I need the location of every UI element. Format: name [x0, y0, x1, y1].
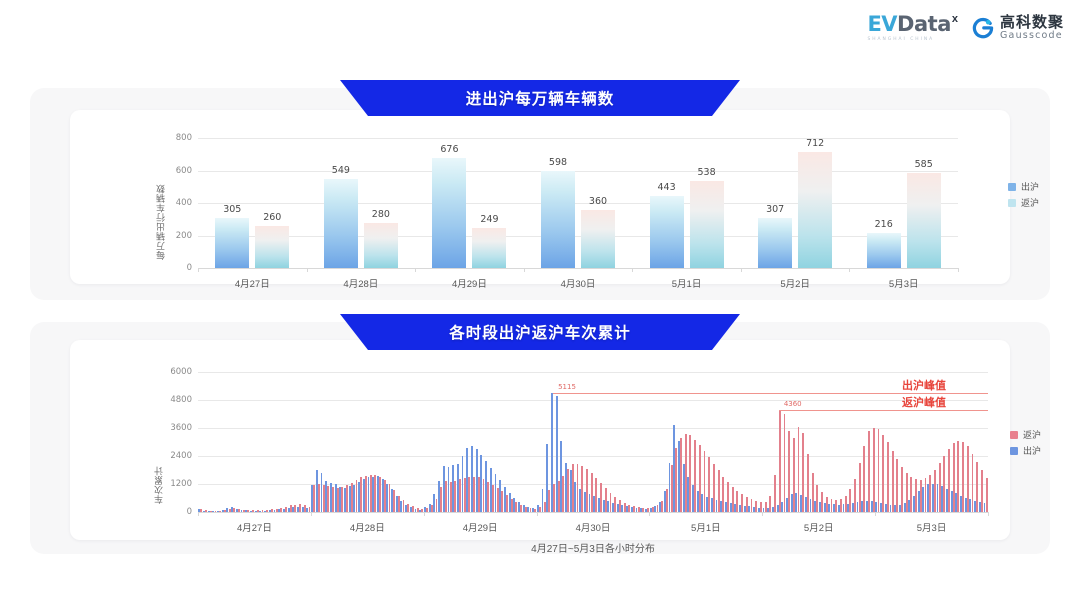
- bar-ret: [255, 226, 289, 268]
- legend-label: 返沪: [1023, 428, 1041, 441]
- gridline-y: [198, 236, 958, 237]
- hourly-bar-ret: [779, 410, 781, 512]
- bar-value-label: 305: [223, 204, 241, 215]
- axis-tick-y-chart-2: 4800: [162, 395, 192, 405]
- bar-ret: [907, 173, 941, 268]
- axis-tick-x-chart-2: 5月3日: [917, 520, 947, 534]
- evdata-superscript: x: [952, 13, 958, 25]
- bar-value-label: 712: [806, 138, 824, 149]
- banner-title-2: 各时段出沪返沪车次累计: [340, 314, 740, 350]
- legend-swatch: [1008, 199, 1016, 207]
- legend-item-出沪: 出沪: [1010, 444, 1041, 457]
- evdata-prefix: EV: [867, 12, 897, 36]
- legend-swatch: [1010, 431, 1018, 439]
- bar-value-label: 598: [549, 157, 567, 168]
- axis-tickmark-x: [307, 268, 308, 272]
- evdata-tagline: SHANGHAI CHINA: [867, 37, 934, 42]
- bar-value-label: 249: [480, 214, 498, 225]
- legend-chart-2: 返沪出沪: [1010, 428, 1041, 457]
- bar-value-label: 443: [657, 182, 675, 193]
- gausscode-name-cn: 高科数聚: [1000, 15, 1064, 31]
- bar-out: [324, 179, 358, 268]
- gridline-y: [198, 203, 958, 204]
- axis-tickmark-x: [537, 512, 538, 516]
- bar-ret: [472, 228, 506, 268]
- evdata-wordmark: EVData x: [867, 14, 958, 35]
- evdata-logo: EVData x SHANGHAI CHINA: [867, 14, 958, 42]
- bar-value-label: 676: [440, 144, 458, 155]
- bar-value-label: 307: [766, 204, 784, 215]
- bar-chart-daily-vehicles: 每万辆出行车辆数02004006008003052604月27日5492804月…: [198, 138, 958, 268]
- bar-value-label: 549: [332, 165, 350, 176]
- gausscode-name-en: Gausscode: [1000, 31, 1064, 41]
- axis-tick-x-chart-1: 4月28日: [343, 276, 378, 290]
- bar-out: [867, 233, 901, 268]
- gridline-y: [198, 171, 958, 172]
- gausscode-logo: 高科数聚 Gausscode: [972, 15, 1064, 41]
- axis-tickmark-x: [649, 512, 650, 516]
- legend-item-返沪: 返沪: [1010, 428, 1041, 441]
- axis-tick-y-chart-2: 2400: [162, 451, 192, 461]
- hourly-bar-ret: [873, 428, 875, 512]
- bar-out: [758, 218, 792, 268]
- axis-tickmark-x: [415, 268, 416, 272]
- legend-label: 返沪: [1021, 196, 1039, 209]
- bar-value-label: 216: [875, 219, 893, 230]
- axis-tick-x-chart-2: 4月28日: [350, 520, 385, 534]
- axis-tick-y-chart-1: 0: [164, 263, 192, 273]
- axis-tickmark-x: [524, 268, 525, 272]
- axis-tick-x-chart-1: 5月2日: [780, 276, 810, 290]
- axis-tickmark-x: [849, 268, 850, 272]
- gausscode-mark-icon: [972, 17, 994, 39]
- chart-card-1: 每万辆出行车辆数02004006008003052604月27日5492804月…: [70, 110, 1010, 284]
- panel-hourly-trips: 车次累计0120024003600480060004月27日4月28日4月29日…: [30, 322, 1050, 554]
- axis-tickmark-x: [311, 512, 312, 516]
- legend-swatch: [1008, 183, 1016, 191]
- axis-tickmark-x: [198, 512, 199, 516]
- axis-tick-x-chart-1: 5月1日: [672, 276, 702, 290]
- axis-title-x-chart-2: 4月27日~5月3日各小时分布: [531, 540, 655, 555]
- bar-out: [432, 158, 466, 268]
- bar-out: [215, 218, 249, 268]
- evdata-logo-text: EVData: [867, 14, 950, 35]
- gridline-y: [198, 268, 958, 269]
- banner-title-1: 进出沪每万辆车辆数: [340, 80, 740, 116]
- axis-tick-x-chart-1: 5月3日: [889, 276, 919, 290]
- gridline-y: [198, 428, 988, 429]
- legend-item-出沪: 出沪: [1008, 180, 1039, 193]
- axis-tickmark-x: [198, 268, 199, 272]
- peak-line-返沪峰值: [779, 410, 988, 411]
- peak-value-出沪峰值: 5115: [558, 383, 576, 391]
- legend-chart-1: 出沪返沪: [1008, 180, 1039, 209]
- axis-tick-x-chart-2: 4月30日: [576, 520, 611, 534]
- axis-tick-y-chart-1: 400: [164, 198, 192, 208]
- axis-tick-y-chart-2: 6000: [162, 367, 192, 377]
- axis-tick-y-chart-2: 0: [162, 507, 192, 517]
- gridline-y: [198, 138, 958, 139]
- chart-card-2: 车次累计0120024003600480060004月27日4月28日4月29日…: [70, 340, 1010, 540]
- axis-tickmark-x: [762, 512, 763, 516]
- axis-tickmark-x: [875, 512, 876, 516]
- bar-value-label: 585: [915, 159, 933, 170]
- gridline-y: [198, 400, 988, 401]
- brand-logos: EVData x SHANGHAI CHINA 高科数聚 Gausscode: [867, 14, 1064, 42]
- hourly-bar-ret: [986, 478, 988, 512]
- axis-tick-x-chart-1: 4月29日: [452, 276, 487, 290]
- axis-tick-y-chart-1: 200: [164, 231, 192, 241]
- evdata-suffix: Data: [897, 12, 951, 36]
- axis-tickmark-x: [958, 268, 959, 272]
- axis-tick-y-chart-2: 1200: [162, 479, 192, 489]
- axis-tick-y-chart-1: 600: [164, 166, 192, 176]
- gridline-y: [198, 512, 988, 513]
- axis-tick-y-chart-2: 3600: [162, 423, 192, 433]
- peak-label-返沪峰值: 返沪峰值: [902, 394, 946, 410]
- peak-label-出沪峰值: 出沪峰值: [902, 377, 946, 393]
- axis-tickmark-x: [632, 268, 633, 272]
- legend-item-返沪: 返沪: [1008, 196, 1039, 209]
- hourly-bar-ret: [882, 435, 884, 512]
- axis-tick-x-chart-1: 4月30日: [561, 276, 596, 290]
- hourly-bar-ret: [868, 431, 870, 512]
- axis-tickmark-x: [741, 268, 742, 272]
- peak-value-返沪峰值: 4360: [784, 400, 802, 408]
- axis-tick-x-chart-2: 5月2日: [804, 520, 834, 534]
- axis-tick-y-chart-1: 800: [164, 133, 192, 143]
- gausscode-wordmark: 高科数聚 Gausscode: [1000, 15, 1064, 41]
- bar-value-label: 260: [263, 212, 281, 223]
- axis-tick-x-chart-2: 4月29日: [463, 520, 498, 534]
- bar-out: [650, 196, 684, 268]
- bar-value-label: 538: [697, 167, 715, 178]
- axis-tick-x-chart-2: 4月27日: [237, 520, 272, 534]
- bar-value-label: 360: [589, 196, 607, 207]
- axis-tick-x-chart-1: 4月27日: [235, 276, 270, 290]
- bar-ret: [581, 210, 615, 269]
- bar-chart-hourly-trips: 车次累计0120024003600480060004月27日4月28日4月29日…: [198, 372, 988, 512]
- bar-value-label: 280: [372, 209, 390, 220]
- axis-tick-x-chart-2: 5月1日: [691, 520, 721, 534]
- gridline-y: [198, 372, 988, 373]
- bar-ret: [798, 152, 832, 268]
- hourly-bar-ret: [887, 442, 889, 512]
- axis-tickmark-x: [988, 512, 989, 516]
- legend-label: 出沪: [1023, 444, 1041, 457]
- bar-ret: [690, 181, 724, 268]
- bar-out: [541, 171, 575, 268]
- legend-label: 出沪: [1021, 180, 1039, 193]
- bar-ret: [364, 223, 398, 269]
- panel-daily-vehicles: 每万辆出行车辆数02004006008003052604月27日5492804月…: [30, 88, 1050, 300]
- hourly-bar-ret: [892, 451, 894, 512]
- axis-tickmark-x: [424, 512, 425, 516]
- legend-swatch: [1010, 447, 1018, 455]
- hourly-bar-ret: [878, 429, 880, 512]
